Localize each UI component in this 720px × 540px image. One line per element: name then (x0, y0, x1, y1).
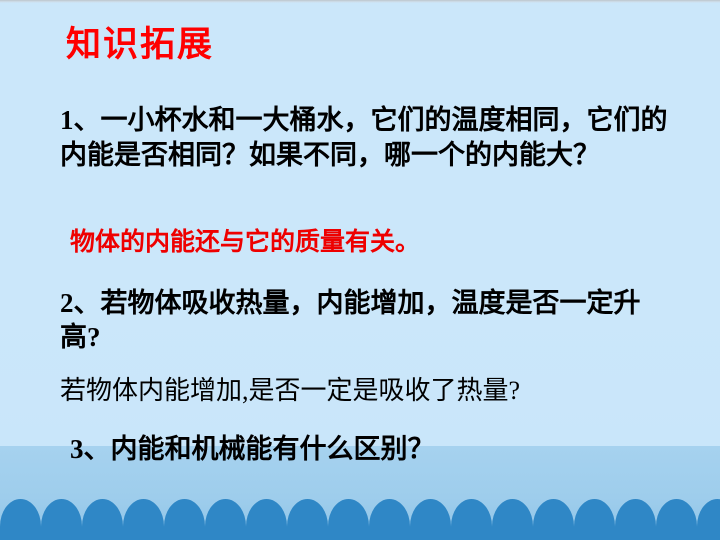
dome-decoration-base (0, 528, 720, 540)
answer-1-text: 物体的内能还与它的质量有关。 (70, 228, 420, 258)
presentation-slide: 知识拓展 1、一小杯水和一大桶水，它们的温度相同，它们的内能是否相同？如果不同，… (0, 0, 720, 540)
question-1-text: 1、一小杯水和一大桶水，它们的温度相同，它们的内能是否相同？如果不同，哪一个的内… (60, 103, 670, 172)
question-2-text: 2、若物体吸收热量，内能增加，温度是否一定升高? (60, 287, 675, 355)
slide-title: 知识拓展 (66, 24, 214, 65)
slide-top-border (0, 0, 720, 3)
question-2b-text: 若物体内能增加,是否一定是吸收了热量? (60, 376, 520, 407)
question-3-text: 3、内能和机械能有什么区别？ (70, 434, 435, 466)
